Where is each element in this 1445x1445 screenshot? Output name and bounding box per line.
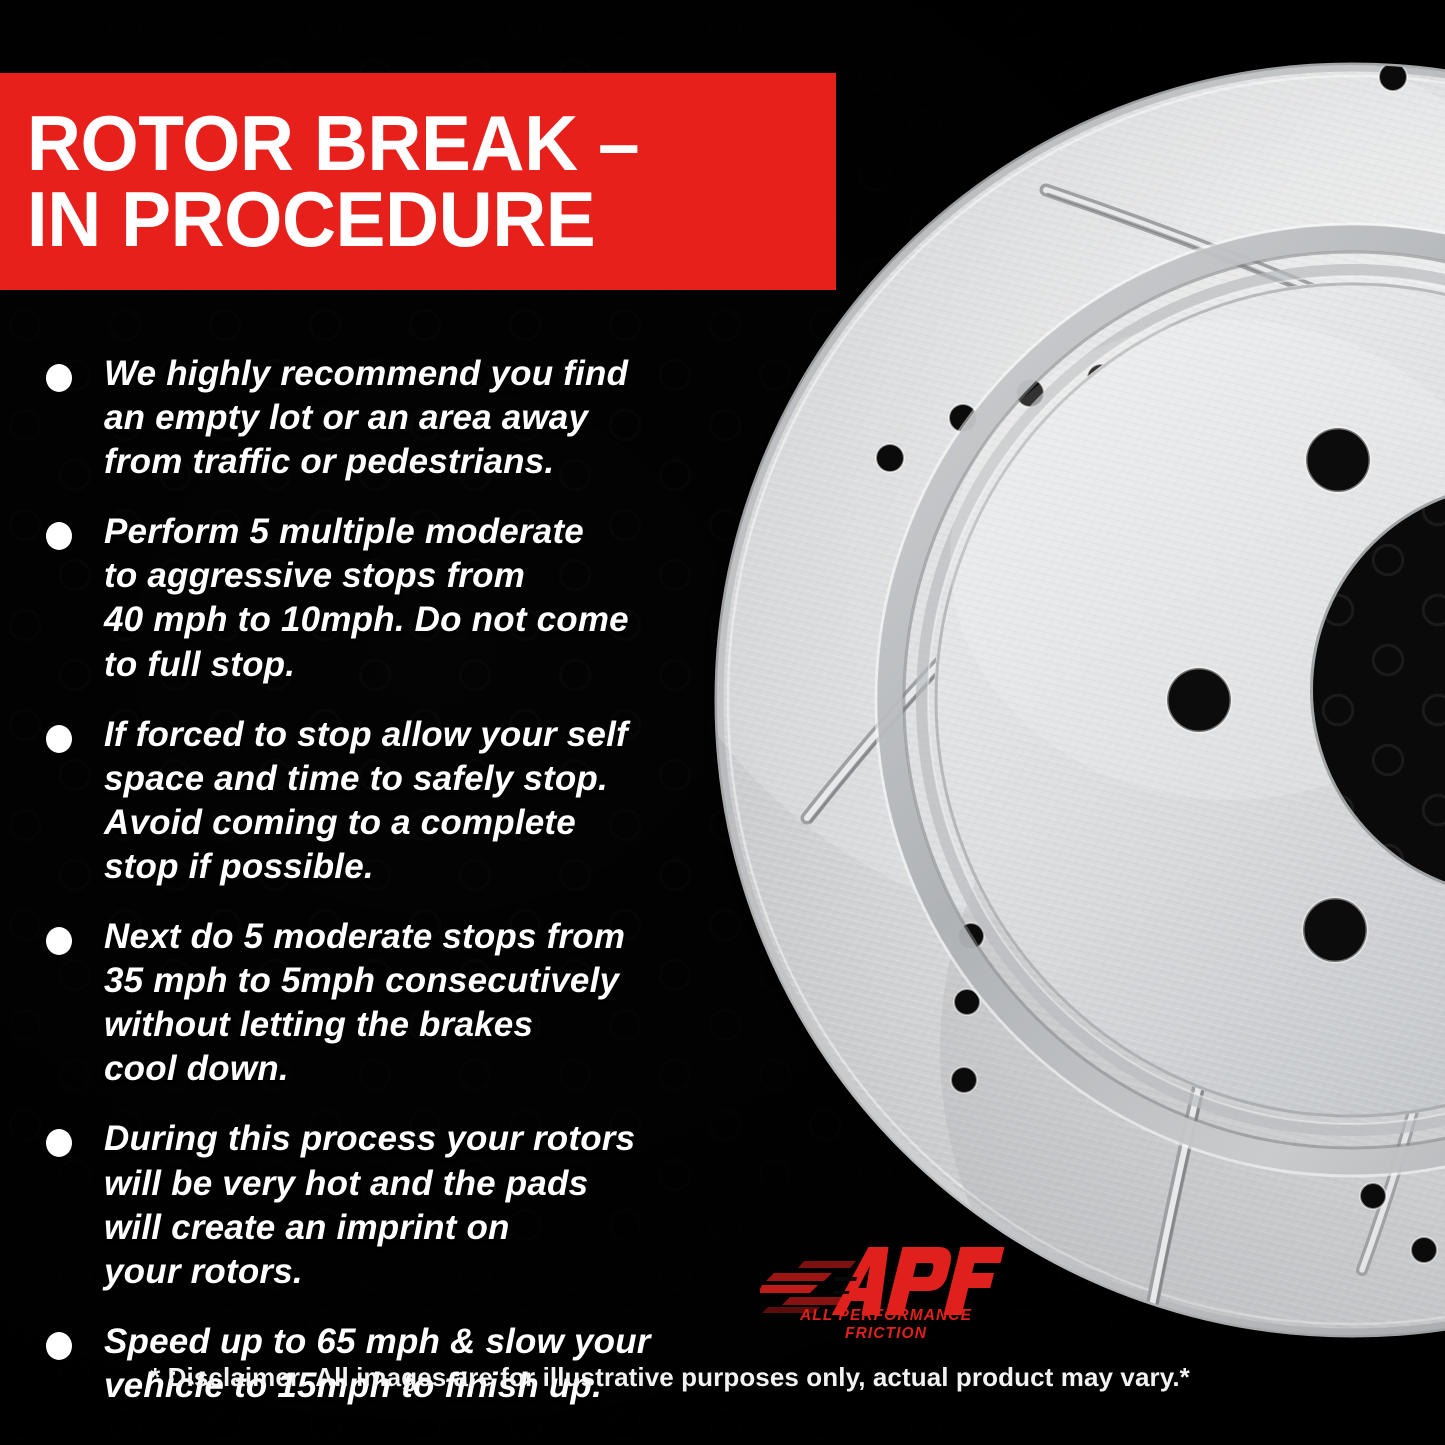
list-item: We highly recommend you find an empty lo… <box>46 352 786 484</box>
step-text: We highly recommend you find an empty lo… <box>104 352 628 484</box>
list-item: During this process your rotors will be … <box>46 1117 786 1293</box>
apf-tagline: ALL PERFORMANCE FRICTION <box>766 1307 1006 1343</box>
bullet-dot-icon <box>46 364 72 392</box>
step-text: During this process your rotors will be … <box>104 1117 635 1293</box>
bullet-dot-icon <box>46 1332 72 1360</box>
list-item: Perform 5 multiple moderate to aggressiv… <box>46 510 786 686</box>
list-item: If forced to stop allow your self space … <box>46 713 786 889</box>
step-text: If forced to stop allow your self space … <box>104 713 628 889</box>
procedure-steps-list: We highly recommend you find an empty lo… <box>46 352 786 1434</box>
bullet-dot-icon <box>46 725 72 753</box>
step-text: Next do 5 moderate stops from 35 mph to … <box>104 915 625 1091</box>
bullet-dot-icon <box>46 927 72 955</box>
disclaimer-text: * Disclaimer: All images are for illustr… <box>0 1362 1340 1393</box>
bullet-dot-icon <box>46 522 72 550</box>
step-text: Perform 5 multiple moderate to aggressiv… <box>104 510 629 686</box>
list-item: Next do 5 moderate stops from 35 mph to … <box>46 915 786 1091</box>
promo-graphic: ROTOR BREAK – IN PROCEDURE We highly rec… <box>0 0 1445 1445</box>
bullet-dot-icon <box>46 1129 72 1157</box>
page-title: ROTOR BREAK – IN PROCEDURE <box>0 106 649 257</box>
title-banner: ROTOR BREAK – IN PROCEDURE <box>0 73 836 290</box>
